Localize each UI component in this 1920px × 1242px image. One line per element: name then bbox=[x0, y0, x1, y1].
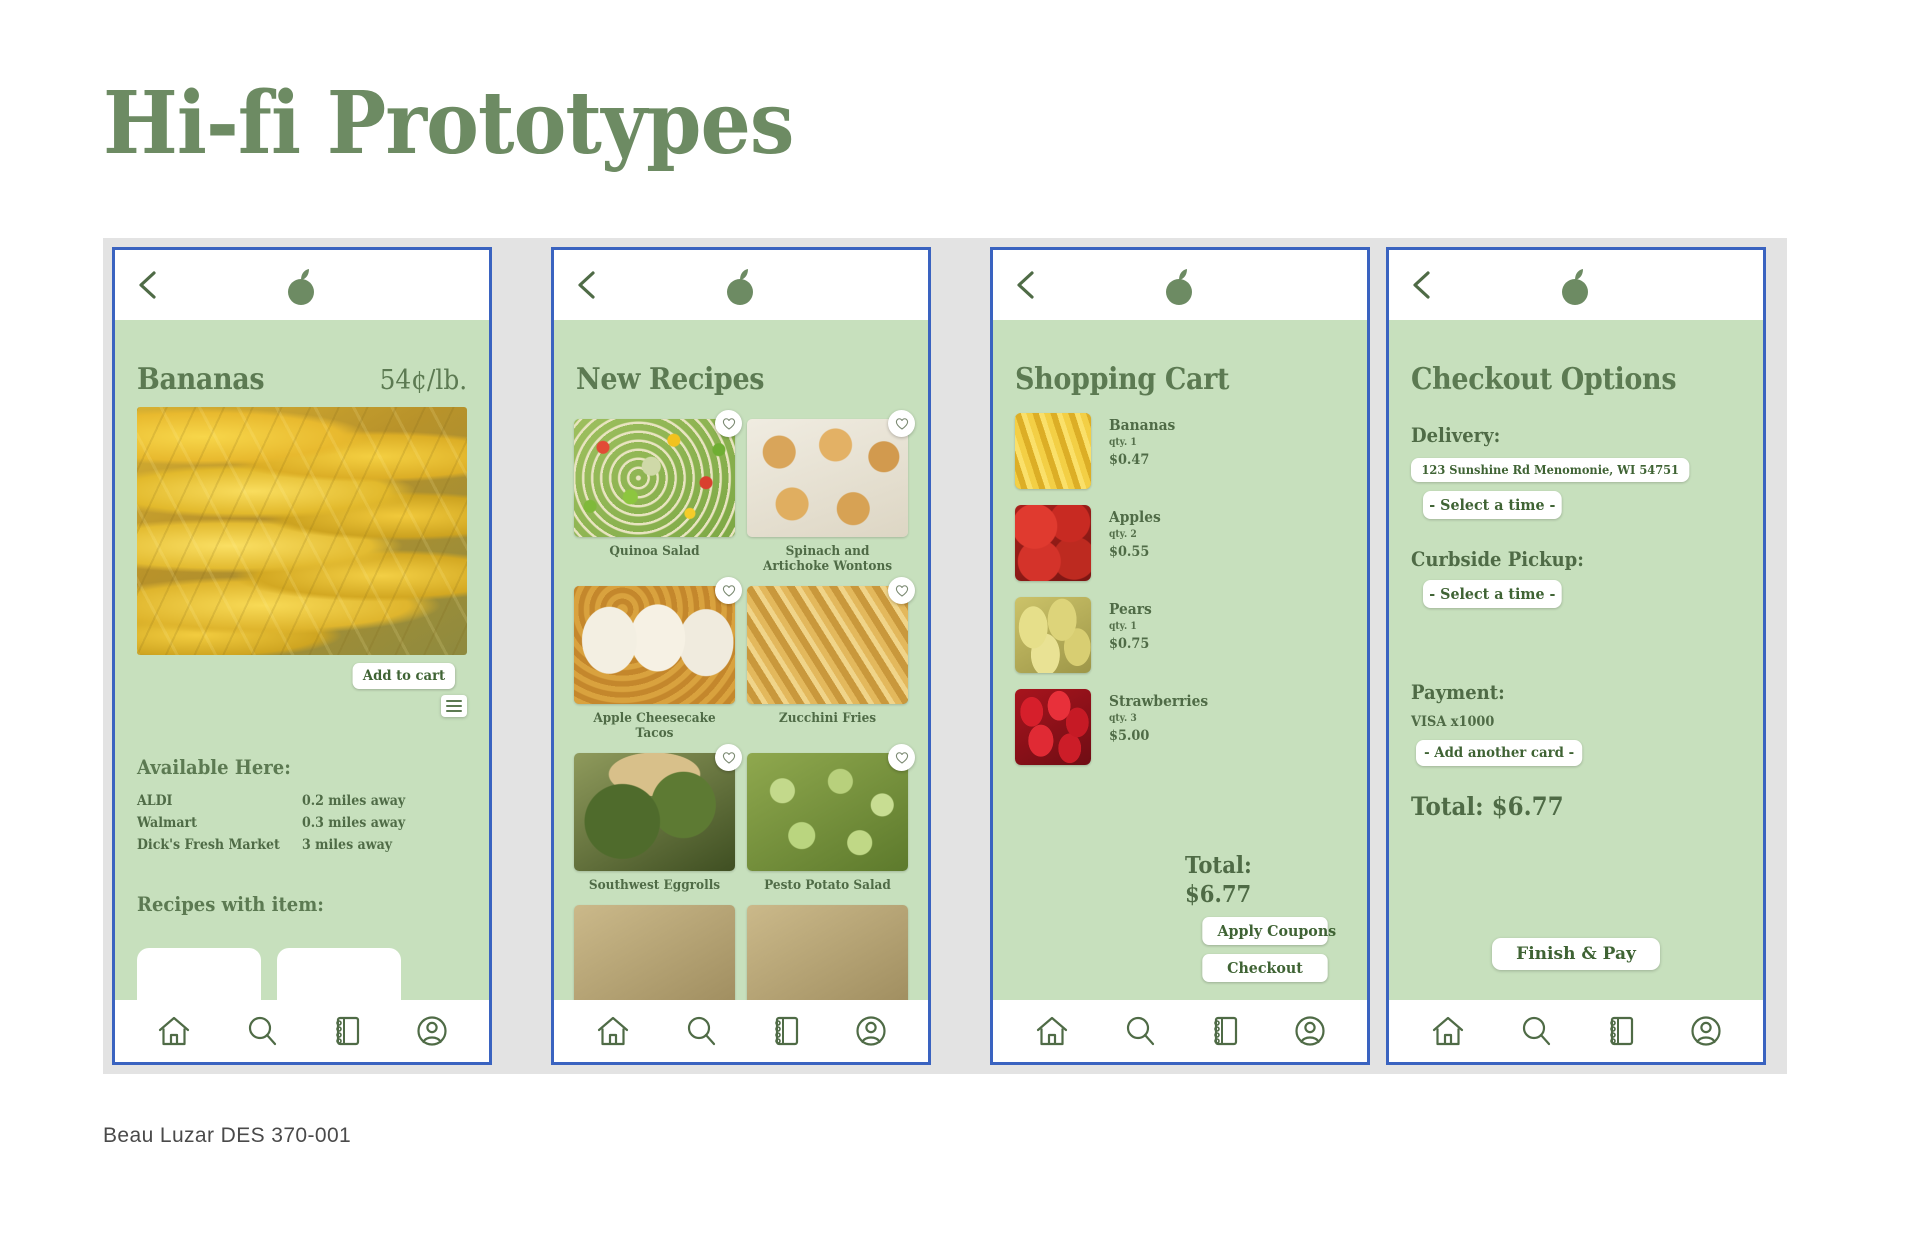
screen-body: New Recipes Quinoa Salad Spinach and Art… bbox=[554, 320, 928, 1000]
recipe-name: Apple Cheesecake Tacos bbox=[580, 711, 730, 741]
cart-item-qty: qty. 2 bbox=[1109, 529, 1161, 540]
product-actions: Add to cart bbox=[137, 663, 467, 721]
page-heading: New Recipes bbox=[576, 362, 893, 397]
apple-logo-icon bbox=[1158, 265, 1202, 309]
poster-page: Hi-fi Prototypes Bananas 54¢/lb. bbox=[0, 0, 1920, 1242]
cart-item-list: Bananas qty. 1 $0.47 Apples qty. 2 $0.55 bbox=[993, 397, 1367, 781]
bottom-navbar bbox=[115, 1000, 489, 1062]
screen-body: Shopping Cart Bananas qty. 1 $0.47 Apple… bbox=[993, 320, 1367, 1000]
home-icon[interactable] bbox=[596, 1015, 630, 1047]
bottom-navbar bbox=[554, 1000, 928, 1062]
cart-item-name: Pears bbox=[1109, 600, 1152, 618]
recipes-book-icon[interactable] bbox=[772, 1015, 800, 1047]
page-heading: Checkout Options bbox=[1411, 362, 1728, 397]
recipe-name: Southwest Eggrolls bbox=[580, 878, 730, 893]
new-recipes-header: New Recipes bbox=[554, 320, 928, 397]
screen-body: Bananas 54¢/lb. Add to cart Available He… bbox=[115, 320, 489, 1000]
store-distance: 0.2 miles away bbox=[302, 790, 405, 812]
topbar bbox=[554, 250, 928, 320]
recipe-card[interactable]: Pesto Potato Salad bbox=[747, 753, 908, 893]
recipe-card-partial[interactable] bbox=[574, 905, 735, 1000]
cart-item-thumbnail bbox=[1015, 597, 1091, 673]
cart-item-name: Apples bbox=[1109, 508, 1161, 526]
cart-item-name: Strawberries bbox=[1109, 692, 1208, 710]
cart-item-price: $0.47 bbox=[1109, 452, 1175, 468]
delivery-heading: Delivery: bbox=[1411, 423, 1708, 447]
cart-item-price: $0.75 bbox=[1109, 636, 1152, 652]
store-name: Walmart bbox=[137, 812, 286, 834]
apple-logo-icon bbox=[280, 265, 324, 309]
favorite-heart-icon[interactable] bbox=[888, 577, 915, 604]
back-icon[interactable] bbox=[133, 270, 161, 300]
add-to-cart-button[interactable]: Add to cart bbox=[352, 663, 455, 689]
store-row: Walmart 0.3 miles away bbox=[137, 812, 467, 834]
cart-item-price: $5.00 bbox=[1109, 728, 1208, 744]
cart-item-price: $0.55 bbox=[1109, 544, 1161, 560]
cart-item-thumbnail bbox=[1015, 505, 1091, 581]
favorite-heart-icon[interactable] bbox=[715, 744, 742, 771]
product-photo bbox=[137, 407, 467, 655]
back-icon[interactable] bbox=[572, 270, 600, 300]
store-list: ALDI 0.2 miles away Walmart 0.3 miles aw… bbox=[137, 790, 467, 856]
recipe-name: Zucchini Fries bbox=[753, 711, 903, 726]
add-another-card-button[interactable]: - Add another card - bbox=[1416, 740, 1582, 766]
back-icon[interactable] bbox=[1407, 270, 1435, 300]
delivery-time-select[interactable]: - Select a time - bbox=[1423, 491, 1562, 519]
recipes-with-item-section: Recipes with item: bbox=[115, 856, 489, 916]
phone-screen-shopping-cart: Shopping Cart Bananas qty. 1 $0.47 Apple… bbox=[990, 247, 1370, 1065]
screen-body: Checkout Options Delivery: 123 Sunshine … bbox=[1389, 320, 1763, 1000]
recipe-thumbnail bbox=[747, 753, 908, 871]
home-icon[interactable] bbox=[1035, 1015, 1069, 1047]
page-heading: Shopping Cart bbox=[1015, 362, 1332, 397]
author-credit: Beau Luzar DES 370-001 bbox=[103, 1124, 351, 1148]
cart-item[interactable]: Strawberries qty. 3 $5.00 bbox=[1015, 689, 1345, 781]
phone-screen-new-recipes: New Recipes Quinoa Salad Spinach and Art… bbox=[551, 247, 931, 1065]
cart-item[interactable]: Bananas qty. 1 $0.47 bbox=[1015, 413, 1345, 505]
bottom-navbar bbox=[1389, 1000, 1763, 1062]
recipe-name: Spinach and Artichoke Wontons bbox=[753, 544, 903, 574]
recipes-book-icon[interactable] bbox=[1607, 1015, 1635, 1047]
search-icon[interactable] bbox=[1124, 1015, 1156, 1047]
recipe-thumbnail bbox=[747, 905, 908, 1000]
recipe-thumbnail bbox=[574, 753, 735, 871]
curbside-time-select[interactable]: - Select a time - bbox=[1423, 580, 1562, 608]
checkout-total: Total: $6.77 bbox=[1411, 792, 1715, 821]
search-icon[interactable] bbox=[1520, 1015, 1552, 1047]
cart-item[interactable]: Apples qty. 2 $0.55 bbox=[1015, 505, 1345, 597]
home-icon[interactable] bbox=[157, 1015, 191, 1047]
store-row: Dick's Fresh Market 3 miles away bbox=[137, 834, 467, 856]
apply-coupons-button[interactable]: Apply Coupons bbox=[1202, 917, 1327, 945]
saved-card-label: VISA x1000 bbox=[1411, 714, 1715, 730]
recipe-thumbnail bbox=[574, 905, 735, 1000]
page-title: Hi-fi Prototypes bbox=[103, 78, 794, 170]
list-icon[interactable] bbox=[441, 695, 467, 717]
search-icon[interactable] bbox=[685, 1015, 717, 1047]
recipe-tab[interactable] bbox=[277, 948, 401, 1000]
recipe-name: Quinoa Salad bbox=[580, 544, 730, 559]
recipe-tab[interactable] bbox=[137, 948, 261, 1000]
curbside-heading: Curbside Pickup: bbox=[1411, 547, 1708, 571]
store-name: ALDI bbox=[137, 790, 286, 812]
store-row: ALDI 0.2 miles away bbox=[137, 790, 467, 812]
recipe-name: Pesto Potato Salad bbox=[753, 878, 903, 893]
recipe-thumbnail bbox=[574, 586, 735, 704]
profile-icon[interactable] bbox=[855, 1015, 887, 1047]
favorite-heart-icon[interactable] bbox=[888, 410, 915, 437]
checkout-header: Checkout Options bbox=[1389, 320, 1763, 397]
topbar bbox=[115, 250, 489, 320]
home-icon[interactable] bbox=[1431, 1015, 1465, 1047]
profile-icon[interactable] bbox=[416, 1015, 448, 1047]
checkout-button[interactable]: Checkout bbox=[1202, 954, 1327, 982]
recipes-book-icon[interactable] bbox=[333, 1015, 361, 1047]
recipe-grid: Quinoa Salad Spinach and Artichoke Wonto… bbox=[554, 397, 928, 1000]
recipe-card[interactable]: Spinach and Artichoke Wontons bbox=[747, 419, 908, 574]
cart-item-qty: qty. 3 bbox=[1109, 713, 1208, 724]
cart-item-qty: qty. 1 bbox=[1109, 621, 1152, 632]
checkout-body: Delivery: 123 Sunshine Rd Menomonie, WI … bbox=[1389, 397, 1763, 821]
store-distance: 3 miles away bbox=[302, 834, 392, 856]
favorite-heart-icon[interactable] bbox=[888, 744, 915, 771]
phone-screen-product-detail: Bananas 54¢/lb. Add to cart Available He… bbox=[112, 247, 492, 1065]
recipe-card[interactable]: Zucchini Fries bbox=[747, 586, 908, 741]
cart-summary: Total: $6.77 Apply Coupons Checkout bbox=[1185, 852, 1345, 982]
recipe-card-partial[interactable] bbox=[747, 905, 908, 1000]
cart-header: Shopping Cart bbox=[993, 320, 1367, 397]
search-icon[interactable] bbox=[246, 1015, 278, 1047]
product-header: Bananas 54¢/lb. bbox=[115, 320, 489, 397]
recipes-book-icon[interactable] bbox=[1211, 1015, 1239, 1047]
cart-total-value: $6.77 bbox=[1185, 881, 1332, 908]
apple-logo-icon bbox=[1554, 265, 1598, 309]
recipe-card-tabs bbox=[137, 948, 401, 1000]
recipe-thumbnail bbox=[747, 419, 908, 537]
cart-item[interactable]: Pears qty. 1 $0.75 bbox=[1015, 597, 1345, 689]
cart-item-qty: qty. 1 bbox=[1109, 437, 1175, 448]
recipe-card[interactable]: Quinoa Salad bbox=[574, 419, 735, 574]
recipe-card[interactable]: Apple Cheesecake Tacos bbox=[574, 586, 735, 741]
bottom-navbar bbox=[993, 1000, 1367, 1062]
phone-screen-checkout-options: Checkout Options Delivery: 123 Sunshine … bbox=[1386, 247, 1766, 1065]
product-title: Bananas bbox=[137, 362, 264, 397]
recipes-with-item-heading: Recipes with item: bbox=[137, 892, 434, 916]
payment-heading: Payment: bbox=[1411, 680, 1708, 704]
favorite-heart-icon[interactable] bbox=[715, 410, 742, 437]
recipe-thumbnail bbox=[574, 419, 735, 537]
cart-item-thumbnail bbox=[1015, 689, 1091, 765]
cart-item-thumbnail bbox=[1015, 413, 1091, 489]
topbar bbox=[993, 250, 1367, 320]
recipe-thumbnail bbox=[747, 586, 908, 704]
favorite-heart-icon[interactable] bbox=[715, 577, 742, 604]
product-price: 54¢/lb. bbox=[379, 365, 467, 396]
availability-section: Available Here: ALDI 0.2 miles away Walm… bbox=[115, 721, 489, 856]
back-icon[interactable] bbox=[1011, 270, 1039, 300]
finish-and-pay-button[interactable]: Finish & Pay bbox=[1492, 938, 1660, 970]
store-distance: 0.3 miles away bbox=[302, 812, 405, 834]
available-heading: Available Here: bbox=[137, 755, 434, 779]
cart-total-label: Total: bbox=[1185, 852, 1332, 879]
store-name: Dick's Fresh Market bbox=[137, 834, 286, 856]
profile-icon[interactable] bbox=[1294, 1015, 1326, 1047]
cart-item-name: Bananas bbox=[1109, 416, 1175, 434]
apple-logo-icon bbox=[719, 265, 763, 309]
topbar bbox=[1389, 250, 1763, 320]
delivery-address-field[interactable]: 123 Sunshine Rd Menomonie, WI 54751 bbox=[1411, 458, 1689, 482]
recipe-card[interactable]: Southwest Eggrolls bbox=[574, 753, 735, 893]
profile-icon[interactable] bbox=[1690, 1015, 1722, 1047]
